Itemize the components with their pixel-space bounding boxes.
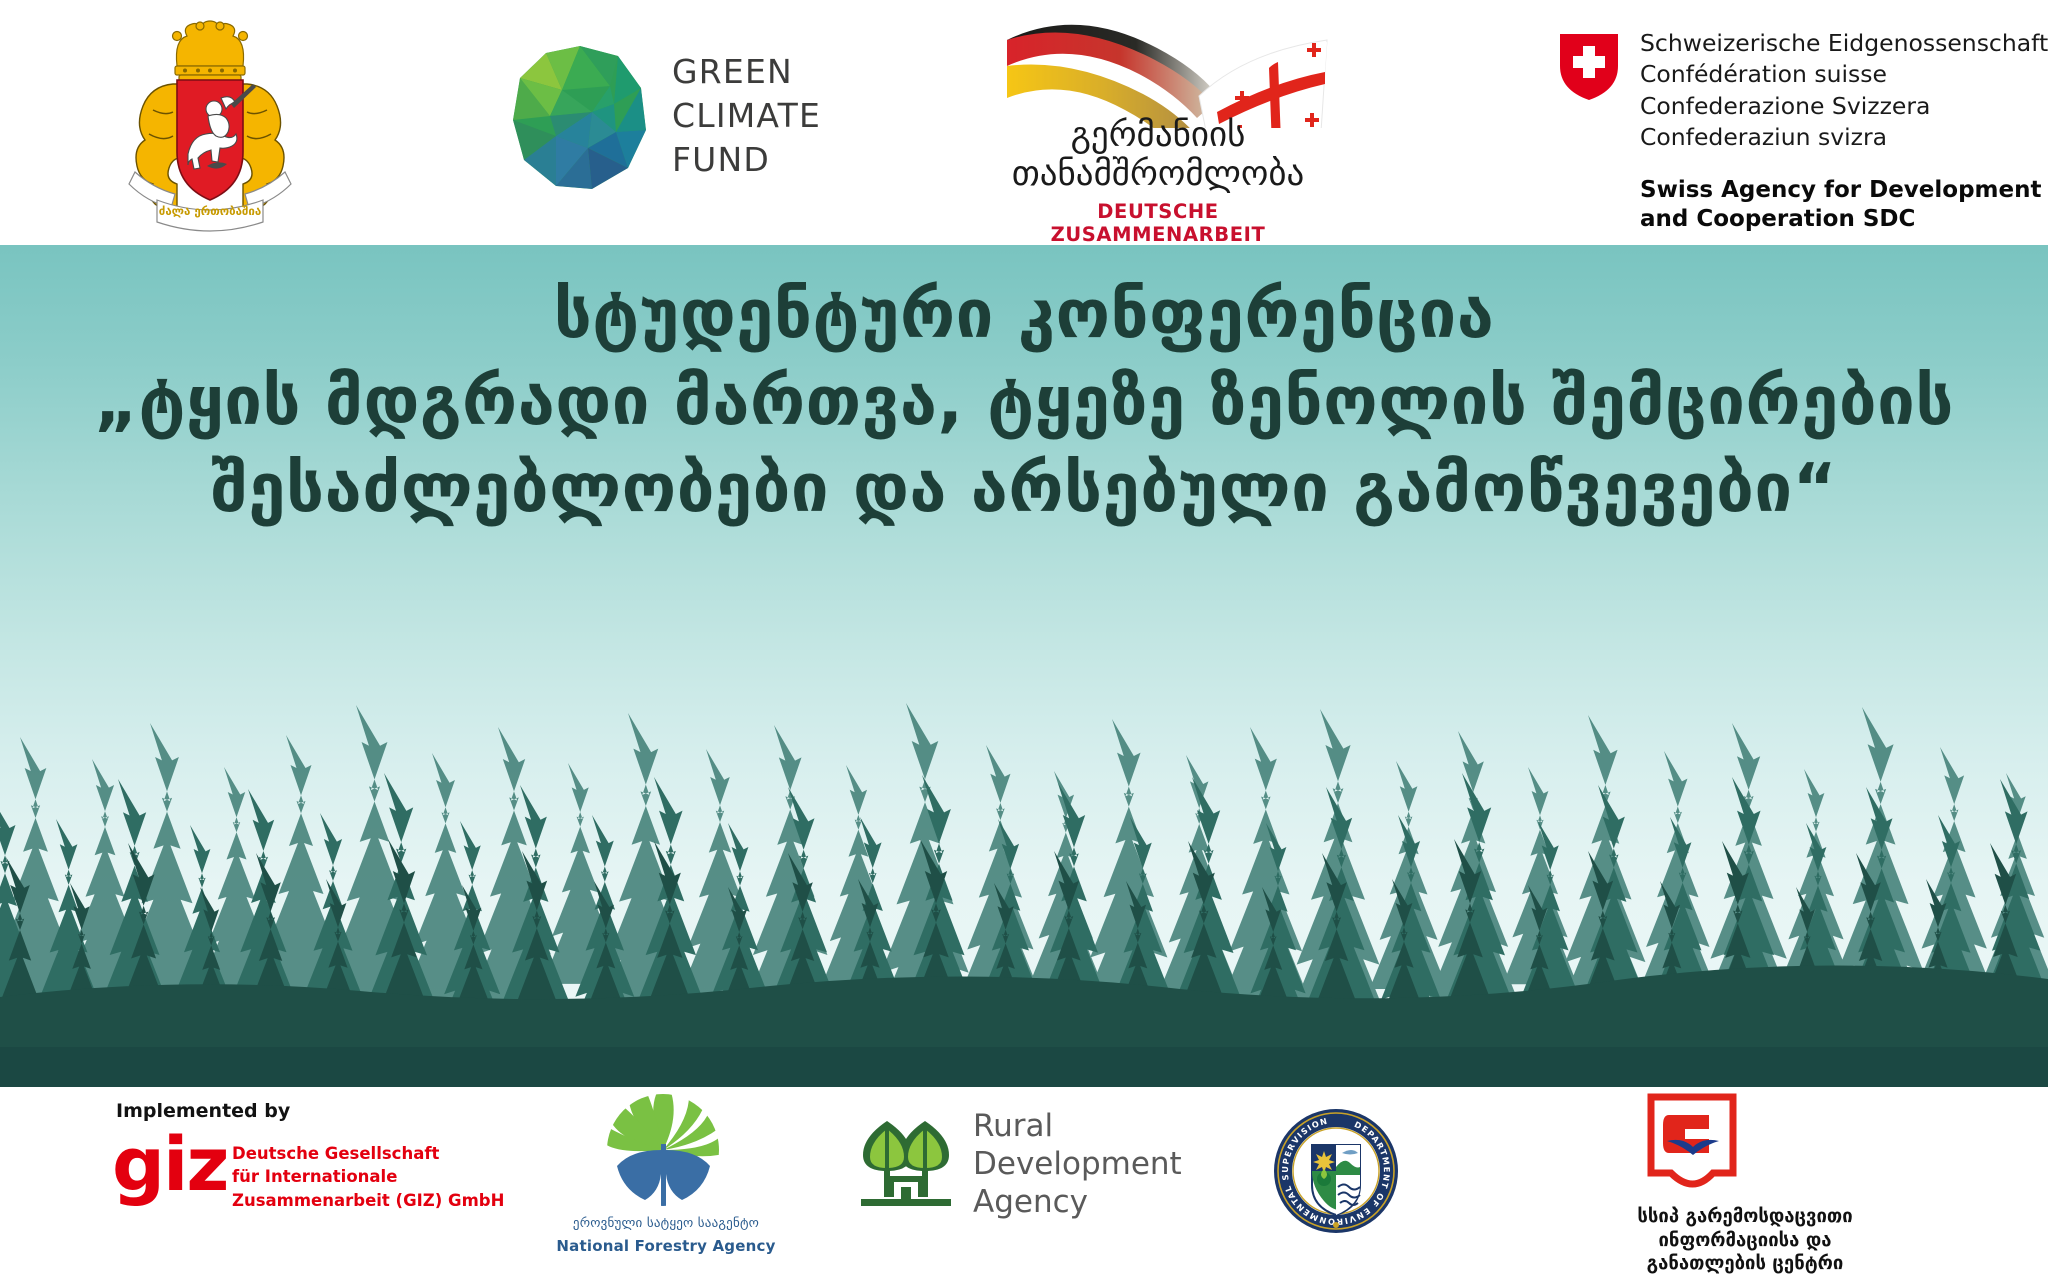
national-forestry-agency-georgian-name: ეროვნული სატყეო სააგენტო (551, 1216, 781, 1231)
swiss-agency-line-2: and Cooperation SDC (1640, 205, 2041, 234)
green-climate-fund-logo: GREEN CLIMATE FUND (510, 36, 910, 211)
giz-full-name: Deutsche Gesellschaft für Internationale… (232, 1142, 504, 1212)
giz-name-line-2: für Internationale (232, 1165, 504, 1188)
education-center-line-3: განათლების ცენტრი (1595, 1252, 1895, 1276)
rda-name-line-2: Development (973, 1145, 1182, 1183)
education-center-name: სსიპ გარემოსდაცვითი ინფორმაციისა და განა… (1595, 1205, 1895, 1276)
deutsche-zusammenarbeit-subtitle: DEUTSCHE ZUSAMMENARBEIT (993, 200, 1323, 246)
gcf-orb-icon (510, 44, 650, 192)
conference-title-line-2: „ტყის მდგრადი მართვა, ტყეზე ზენოლის შემც… (0, 358, 2048, 445)
giz-logo: Implemented by giz Deutsche Gesellschaft… (112, 1100, 432, 1210)
swiss-lang-fr: Confédération suisse (1640, 59, 2048, 90)
department-environmental-supervision-logo: DEPARTMENT OF ENVIRONMENTAL SUPERVISION (1272, 1107, 1400, 1235)
giz-name-line-1: Deutsche Gesellschaft (232, 1142, 504, 1165)
gcf-wordmark: GREEN CLIMATE FUND (672, 50, 821, 182)
forest-floor (0, 1047, 2048, 1087)
swiss-lang-rm: Confederaziun svizra (1640, 122, 2048, 153)
education-center-line-1: სსიპ გარემოსდაცვითი (1595, 1205, 1895, 1229)
swiss-confederation-languages: Schweizerische Eidgenossenschaft Confédé… (1640, 28, 2048, 153)
swiss-shield-icon (1558, 32, 1620, 102)
giz-name-line-3: Zusammenarbeit (GIZ) GmbH (232, 1189, 504, 1212)
hero-banner: სტუდენტური კონფერენცია „ტყის მდგრადი მარ… (0, 245, 2048, 1087)
two-trees-house-icon (857, 1113, 955, 1209)
swiss-lang-de: Schweizerische Eidgenossenschaft (1640, 28, 2048, 59)
gcf-line-1: GREEN (672, 50, 821, 94)
swiss-agency-name: Swiss Agency for Development and Coopera… (1640, 176, 2041, 235)
bottom-logo-bar: Implemented by giz Deutsche Gesellschaft… (0, 1087, 2048, 1271)
german-cooperation-logo: გერმანიის თანამშრომლობა DEUTSCHE ZUSAMME… (985, 8, 1405, 228)
swiss-sdc-logo: Schweizerische Eidgenossenschaft Confédé… (1558, 28, 2018, 228)
environmental-supervision-seal-icon: DEPARTMENT OF ENVIRONMENTAL SUPERVISION (1272, 1107, 1400, 1235)
gcf-line-2: CLIMATE (672, 94, 821, 138)
swiss-lang-it: Confederazione Svizzera (1640, 91, 2048, 122)
coat-of-arms-motto: ძალა ერთობაშია (159, 204, 261, 218)
conference-title-line-3: შესაძლებლობები და არსებული გამოწვევები“ (0, 445, 2048, 532)
conference-title-line-1: სტუდენტური კონფერენცია (0, 271, 2048, 358)
education-center-line-2: ინფორმაციისა და (1595, 1229, 1895, 1253)
rda-name-line-1: Rural (973, 1107, 1182, 1145)
german-cooperation-georgian-line-1: გერმანიის (993, 116, 1323, 155)
swiss-agency-line-1: Swiss Agency for Development (1640, 176, 2041, 205)
environmental-education-center-logo: სსიპ გარემოსდაცვითი ინფორმაციისა და განა… (1595, 1093, 1895, 1268)
rural-development-agency-logo: Rural Development Agency (857, 1109, 1187, 1229)
implemented-by-label: Implemented by (116, 1100, 290, 1122)
national-forestry-agency-english-name: National Forestry Agency (551, 1237, 781, 1255)
national-forestry-agency-logo: ეროვნული სატყეო სააგენტო National Forest… (551, 1092, 781, 1267)
tree-circle-icon (591, 1092, 736, 1214)
book-shield-icon (1647, 1093, 1737, 1199)
german-cooperation-georgian-name: გერმანიის თანამშრომლობა (993, 116, 1323, 194)
rural-development-agency-name: Rural Development Agency (973, 1107, 1182, 1221)
german-cooperation-georgian-line-2: თანამშრომლობა (993, 155, 1323, 194)
conference-poster: ძალა ერთობაშია (0, 0, 2048, 1271)
gcf-line-3: FUND (672, 138, 821, 182)
giz-wordmark: giz (112, 1130, 227, 1200)
coat-of-arms-icon: ძალა ერთობაშია (95, 14, 325, 234)
german-georgian-flag-ribbon-icon (985, 8, 1405, 128)
forest-silhouette-illustration (0, 527, 2048, 1087)
georgia-coat-of-arms-logo: ძალა ერთობაშია (95, 14, 325, 234)
rda-name-line-3: Agency (973, 1183, 1182, 1221)
conference-title: სტუდენტური კონფერენცია „ტყის მდგრადი მარ… (0, 271, 2048, 532)
top-logo-bar: ძალა ერთობაშია (0, 0, 2048, 245)
